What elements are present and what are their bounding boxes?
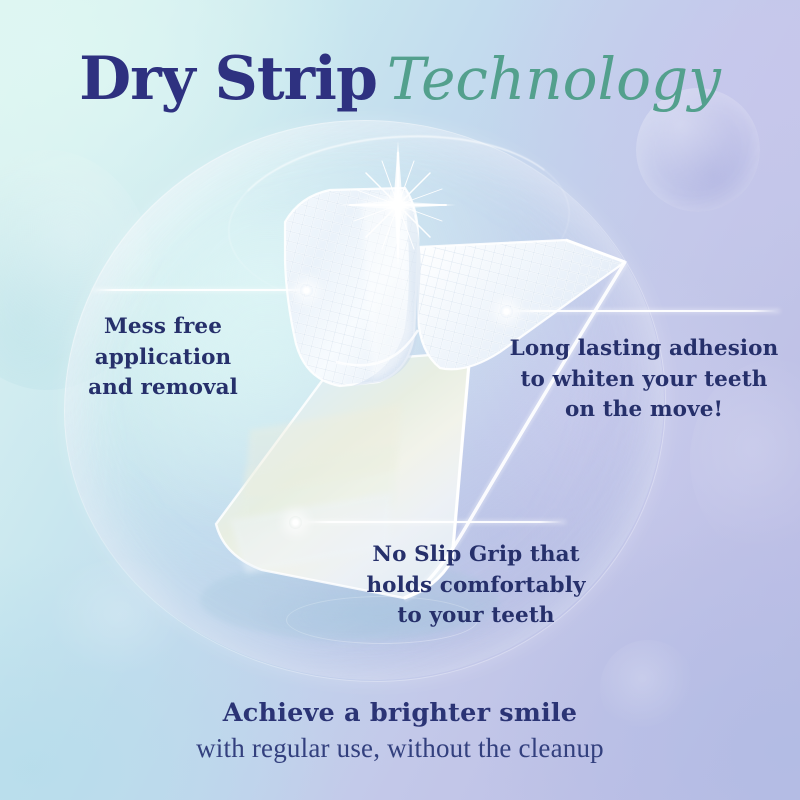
footer-line-primary: Achieve a brighter smile	[0, 698, 800, 728]
callout-line: holds comfortably	[340, 571, 612, 602]
leader-node-long-lasting	[500, 305, 513, 318]
callout-line: application	[40, 343, 286, 374]
callout-line: on the move!	[498, 395, 790, 426]
callout-line: and removal	[40, 373, 286, 404]
leader-node-no-slip-grip	[289, 516, 302, 529]
title-bold-part: Dry Strip	[79, 44, 377, 114]
callout-line: No Slip Grip that	[340, 540, 612, 571]
leader-line-long-lasting	[508, 310, 780, 312]
callout-mess-free: Mess free application and removal	[40, 312, 286, 404]
callout-long-lasting-adhesion: Long lasting adhesion to whiten your tee…	[498, 334, 790, 426]
callout-line: to your teeth	[340, 601, 612, 632]
title-italic-part: Technology	[387, 45, 721, 113]
callout-no-slip-grip: No Slip Grip that holds comfortably to y…	[340, 540, 612, 632]
callout-line: Long lasting adhesion	[498, 334, 790, 365]
callout-line: Mess free	[40, 312, 286, 343]
leader-node-mess-free	[300, 284, 313, 297]
page-title: Dry StripTechnology	[0, 44, 800, 114]
leader-line-no-slip-grip	[302, 521, 566, 523]
infographic-canvas: Dry StripTechnology Mess free applicatio…	[0, 0, 800, 800]
callout-line: to whiten your teeth	[498, 365, 790, 396]
footer-tagline: Achieve a brighter smile with regular us…	[0, 698, 800, 764]
leader-line-mess-free	[92, 289, 306, 291]
footer-line-secondary: with regular use, without the cleanup	[0, 733, 800, 764]
